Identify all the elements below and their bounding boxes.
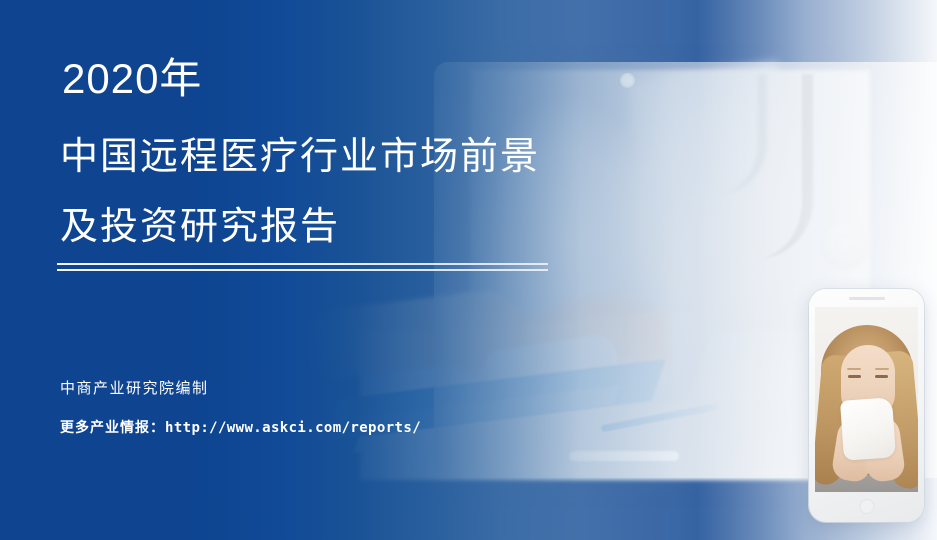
publisher-label: 中商产业研究院编制 (60, 378, 209, 400)
report-cover: 2020年 中国远程医疗行业市场前景 及投资研究报告 中商产业研究院编制 更多产… (0, 0, 937, 540)
source-prefix-label: 更多产业情报： (60, 419, 165, 435)
cover-year: 2020年 (62, 52, 202, 106)
portrait-eye-right (875, 375, 888, 378)
phone-home-button (859, 499, 874, 514)
title-divider-line-bottom (57, 269, 548, 271)
title-divider (57, 263, 548, 272)
cover-text-block: 2020年 中国远程医疗行业市场前景 及投资研究报告 中商产业研究院编制 更多产… (0, 0, 600, 540)
phone-screen (815, 307, 918, 492)
portrait-eyebrow-right (875, 368, 889, 370)
source-line: 更多产业情报：http://www.askci.com/reports/ (60, 416, 421, 439)
portrait-eyebrow-left (847, 368, 861, 370)
cover-title-line1: 中国远程医疗行业市场前景 (60, 131, 540, 183)
portrait-eye-left (848, 375, 861, 378)
source-url-link[interactable]: http://www.askci.com/reports/ (165, 420, 421, 436)
cover-title-line2: 及投资研究报告 (60, 201, 340, 253)
smartphone-device (809, 289, 924, 522)
phone-speaker-grille (849, 297, 885, 300)
portrait-tissue (840, 397, 896, 460)
title-divider-line-top (57, 263, 548, 265)
